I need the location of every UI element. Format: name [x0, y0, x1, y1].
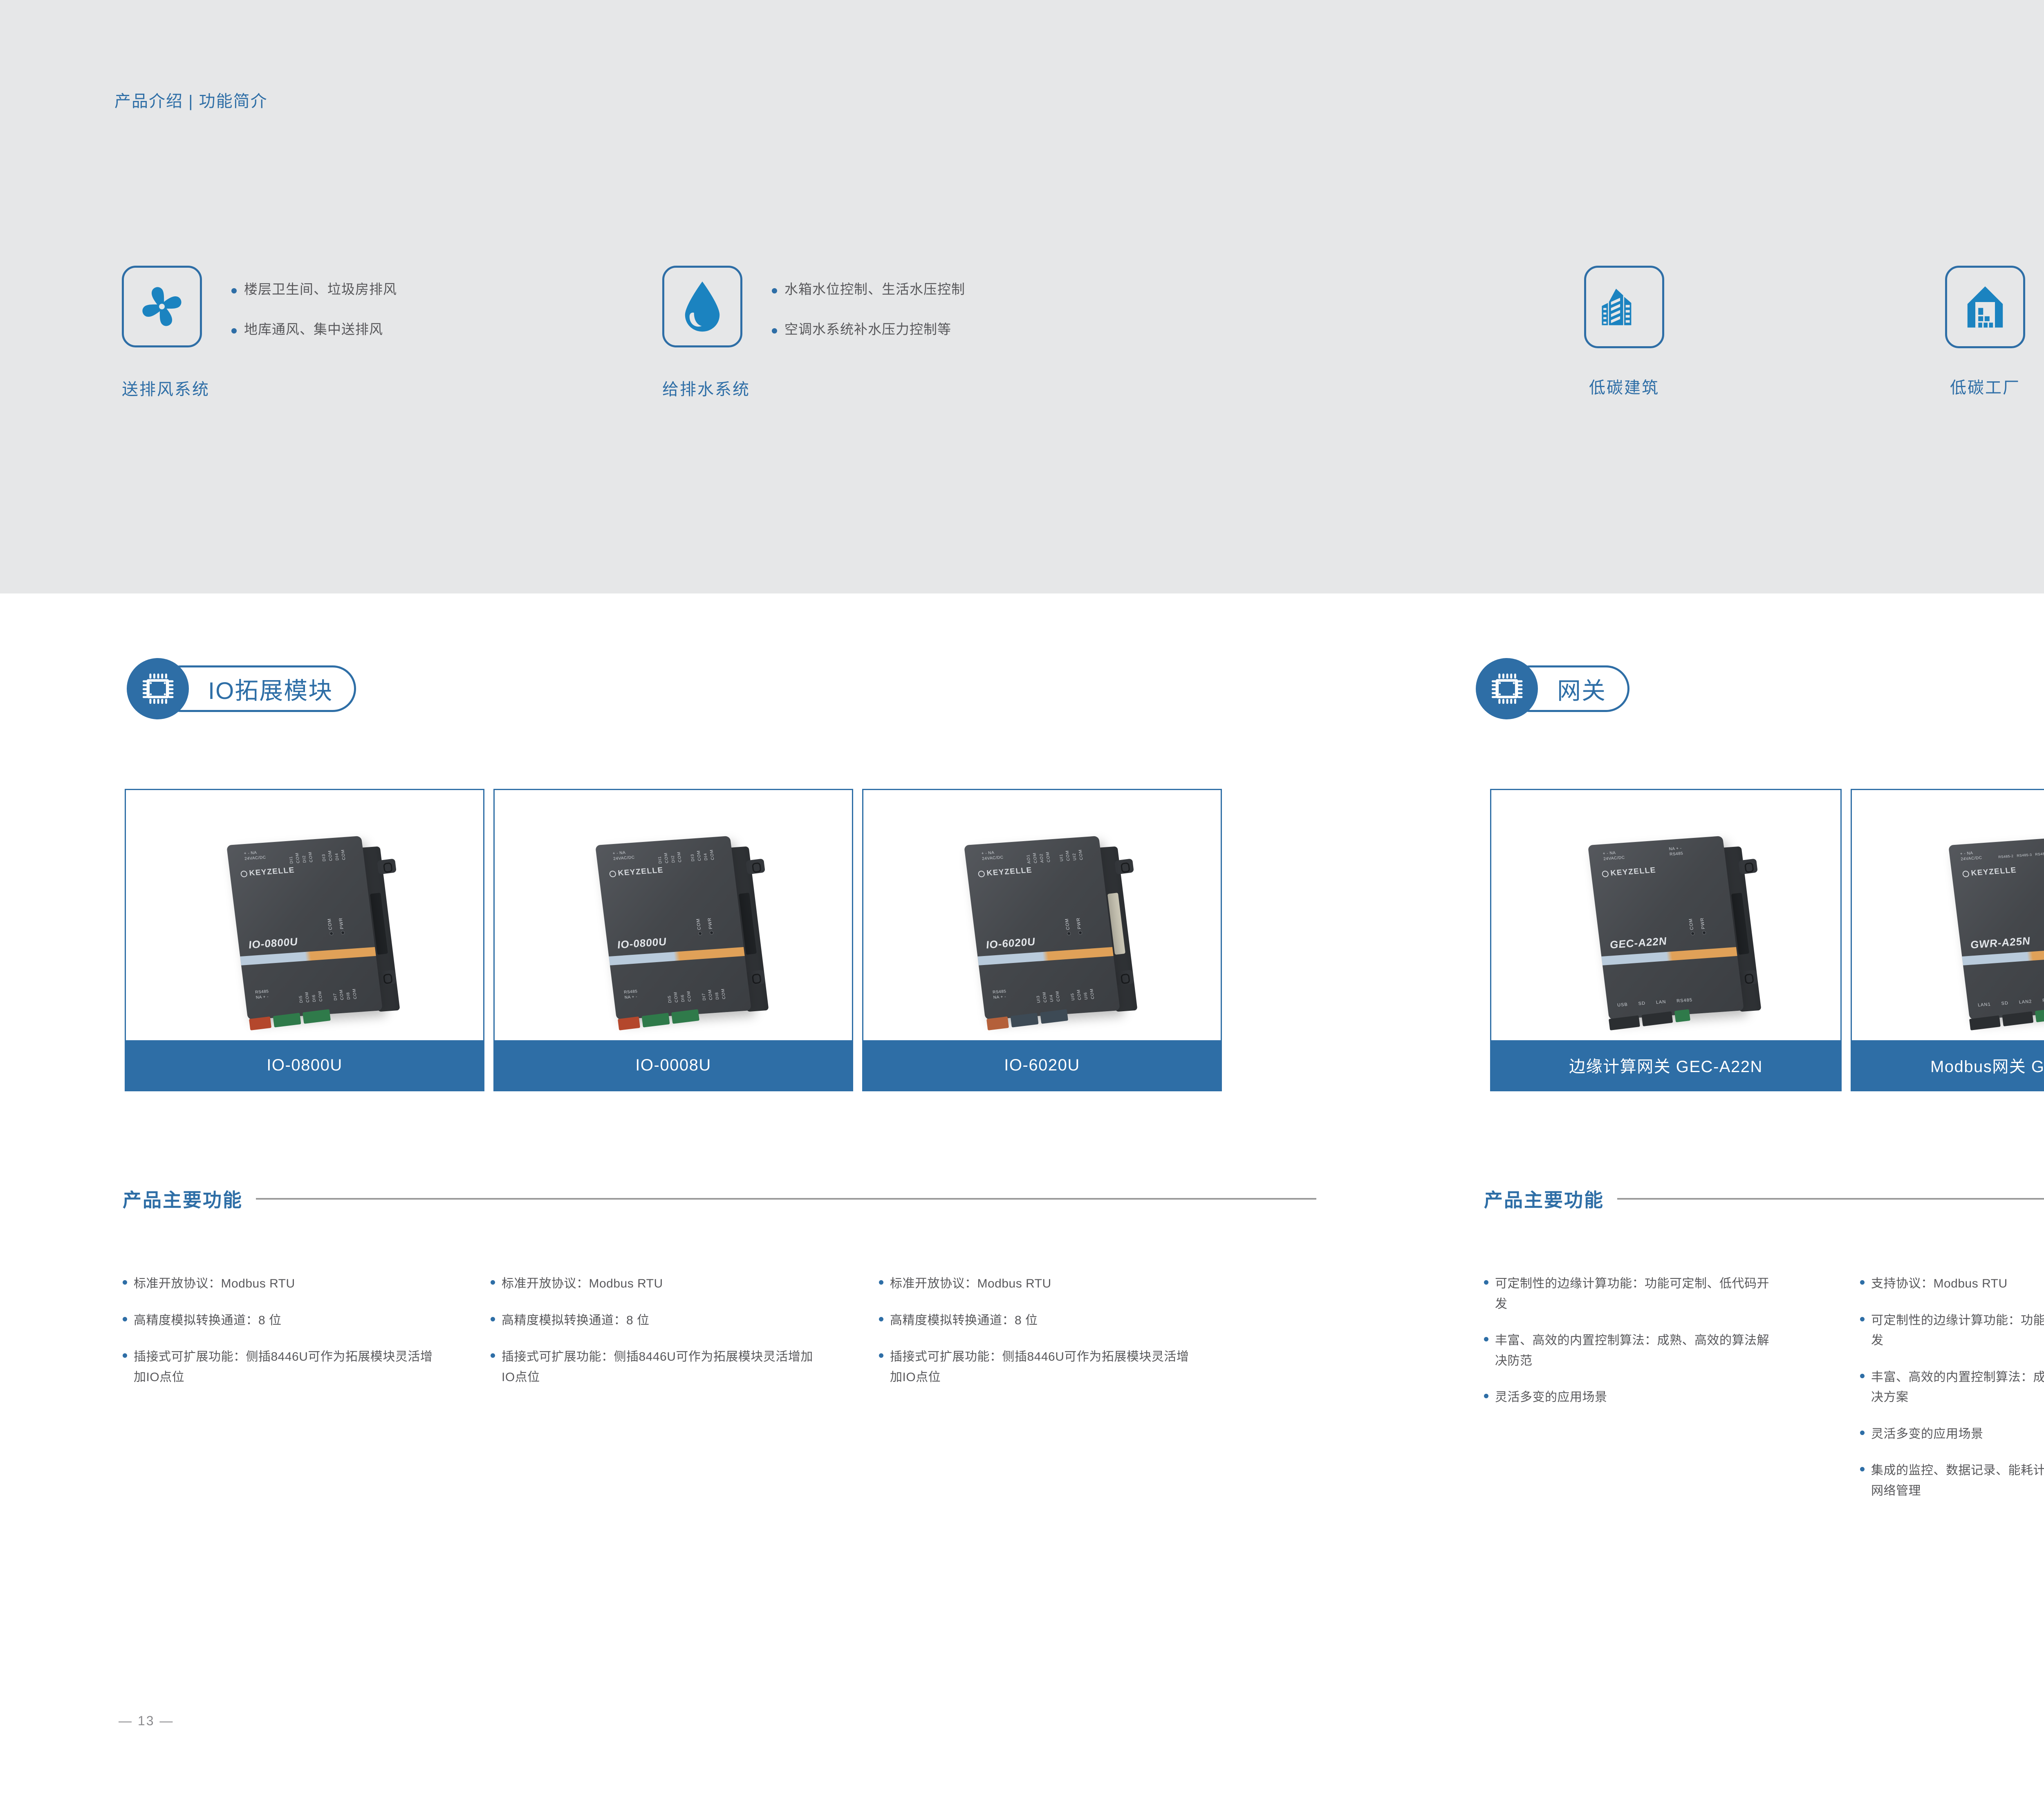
bullet-dot-icon	[123, 1353, 127, 1358]
product-card[interactable]: + - NA 24VAC/DC RS485-2 RS485-3 RS485-4 …	[1851, 789, 2044, 1091]
application-title: 给排水系统	[662, 376, 750, 400]
bullet-dot-icon	[879, 1280, 883, 1285]
device-illustration: + - NA 24VAC/DC NA + - RS485 KEYZELLE GE…	[1598, 840, 1733, 1016]
feature-text: 高精度模拟转换通道：8 位	[134, 1310, 282, 1331]
brand-logo: KEYZELLE	[609, 866, 664, 879]
bullet-text: 楼层卫生间、垃圾房排风	[244, 281, 397, 298]
features-heading-row: 产品主要功能	[1484, 1185, 2044, 1212]
feature-text: 支持协议：Modbus RTU	[1871, 1274, 2008, 1294]
device-model-text: IO-0800U	[616, 935, 667, 951]
brand-mark-icon	[1962, 871, 1970, 878]
device-model-text: IO-6020U	[985, 935, 1036, 951]
feature-text: 插接式可扩展功能：侧插8446U可作为拓展模块灵活增加IO点位	[134, 1347, 444, 1387]
device-illustration: + - NA 24VAC/DC AO1 COM AO2 COM UI1 COM	[975, 840, 1109, 1016]
product-card[interactable]: + - NA 24VAC/DC AO1 COM AO2 COM UI1 COM	[862, 789, 1222, 1091]
device-body: + - NA 24VAC/DC RS485-2 RS485-3 RS485-4 …	[1948, 836, 2044, 1020]
feature-column: 支持协议：Modbus RTU 可定制性的边缘计算功能：功能可定制、低代码开发 …	[1860, 1274, 2044, 1517]
product-label-bar: IO-6020U	[863, 1040, 1221, 1090]
scene-low-carbon-factory: 低碳工厂	[1945, 266, 2025, 398]
list-item: 插接式可扩展功能：侧插8446U可作为拓展模块灵活增加IO点位	[491, 1347, 879, 1387]
feature-text: 集成的监控、数据记录、能耗计量、报警、调度和网络管理	[1871, 1460, 2044, 1501]
led-pwr: PWR	[707, 917, 714, 934]
bullet-text: 空调水系统补水压力控制等	[784, 321, 951, 338]
top-terminal-group-a: DI1 COM DI2 COM	[656, 844, 682, 864]
bullet-dot-icon	[879, 1317, 883, 1321]
product-card[interactable]: + - NA 24VAC/DC NA + - RS485 KEYZELLE GE…	[1490, 789, 1842, 1091]
led-com: COM	[1065, 918, 1071, 935]
bullet-dot-icon	[879, 1353, 883, 1358]
top-terminal-group-b: DI3 COM DI4 COM	[320, 842, 346, 862]
factory-icon-box	[1945, 266, 2025, 348]
office-buildings-icon	[1599, 282, 1650, 332]
mounting-tab	[1114, 858, 1134, 874]
list-item: 水箱水位控制、生活水压控制	[772, 281, 965, 298]
feature-columns: 标准开放协议：Modbus RTU 高精度模拟转换通道：8 位 插接式可扩展功能…	[123, 1274, 1316, 1404]
brand-logo: KEYZELLE	[978, 866, 1033, 879]
brand-text: KEYZELLE	[249, 866, 295, 878]
port-label: USB	[1617, 1002, 1628, 1008]
product-card-row-io: + - NA 24VAC/DC DI1 COM DI2 COM DI3 COM	[125, 789, 1222, 1091]
feature-text: 标准开放协议：Modbus RTU	[134, 1274, 295, 1294]
led-indicators: COM PWR	[1065, 917, 1083, 935]
features-block-gateway: 产品主要功能 可定制性的边缘计算功能：功能可定制、低代码开发 丰富、高效的内置控…	[1484, 1185, 2044, 1517]
application-block-ventilation: 楼层卫生间、垃圾房排风 地库通风、集中送排风 送排风系统	[122, 266, 612, 413]
port-label: RS485-1	[2042, 997, 2044, 1003]
port-labels: LAN1 SD LAN2 RS485-1	[1977, 997, 2044, 1008]
page-header-left: 产品介绍 | 功能简介	[114, 88, 268, 112]
power-terminal-label: + - NA 24VAC/DC	[244, 850, 266, 862]
list-item: 支持协议：Modbus RTU	[1860, 1274, 2044, 1294]
feature-column: 标准开放协议：Modbus RTU 高精度模拟转换通道：8 位 插接式可扩展功能…	[879, 1274, 1247, 1404]
feature-text: 高精度模拟转换通道：8 位	[502, 1310, 650, 1331]
feature-column: 可定制性的边缘计算功能：功能可定制、低代码开发 丰富、高效的内置控制算法：成熟、…	[1484, 1274, 1860, 1517]
features-heading: 产品主要功能	[1484, 1185, 1604, 1212]
section-badge-label: 网关	[1557, 672, 1606, 706]
device-illustration: + - NA 24VAC/DC RS485-2 RS485-3 RS485-4 …	[1959, 840, 2044, 1016]
list-item: 可定制性的边缘计算功能：功能可定制、低代码开发	[1860, 1310, 2044, 1351]
list-item: 标准开放协议：Modbus RTU	[879, 1274, 1247, 1294]
bullet-dot-icon	[123, 1280, 127, 1285]
feature-text: 丰富、高效的内置控制算法：成熟、高效的算法解决防范	[1495, 1330, 1781, 1371]
feature-text: 丰富、高效的内置控制算法：成熟、高效的算法解决方案	[1871, 1367, 2044, 1408]
bullet-dot-icon	[1484, 1394, 1488, 1398]
led-indicators: COM PWR	[696, 917, 714, 935]
rs485-label: RS485 NA + -	[624, 989, 639, 1000]
list-item: 高精度模拟转换通道：8 位	[491, 1310, 879, 1331]
bullet-dot-icon	[1860, 1280, 1865, 1285]
device-body: + - NA 24VAC/DC AO1 COM AO2 COM UI1 COM	[964, 836, 1120, 1020]
mounting-tab	[377, 970, 397, 985]
feature-text: 可定制性的边缘计算功能：功能可定制、低代码开发	[1871, 1310, 2044, 1351]
device-body: + - NA 24VAC/DC DI1 COM DI2 COM DI3 COM	[226, 836, 383, 1020]
feature-text: 插接式可扩展功能：侧插8446U可作为拓展模块灵活增加IO点位	[890, 1347, 1201, 1387]
page-number-left: — 13 —	[119, 1713, 174, 1729]
bottom-terminal-group-a: DI5 COM DI6 COM	[666, 983, 692, 1003]
rs485-label: RS485 NA + -	[255, 989, 270, 1000]
list-item: 插接式可扩展功能：侧插8446U可作为拓展模块灵活增加IO点位	[879, 1347, 1247, 1387]
brand-text: KEYZELLE	[617, 866, 664, 878]
bullet-dot-icon	[1860, 1431, 1865, 1435]
bottom-terminal-group-a: DI5 COM DI6 COM	[297, 983, 323, 1003]
feature-column: 标准开放协议：Modbus RTU 高精度模拟转换通道：8 位 插接式可扩展功能…	[491, 1274, 879, 1404]
list-item: 地库通风、集中送排风	[231, 321, 397, 338]
rs485-terminal-labels: RS485-2 RS485-3 RS485-4 RS485-5	[1998, 850, 2044, 860]
list-item: 楼层卫生间、垃圾房排风	[231, 281, 397, 298]
bullet-dot-icon	[491, 1280, 495, 1285]
water-drop-icon-box	[662, 266, 742, 347]
power-terminal-label: + - NA 24VAC/DC	[1960, 851, 1982, 862]
list-item: 集成的监控、数据记录、能耗计量、报警、调度和网络管理	[1860, 1460, 2044, 1501]
feature-text: 高精度模拟转换通道：8 位	[890, 1310, 1038, 1331]
brand-logo: KEYZELLE	[1962, 866, 2017, 879]
application-title: 送排风系统	[122, 376, 210, 400]
device-illustration: + - NA 24VAC/DC DI1 COM DI2 COM DI3 COM	[237, 840, 372, 1016]
port-label: LAN1	[1977, 1002, 1991, 1008]
chip-icon-circle	[127, 658, 189, 719]
bottom-terminal-group-b: DI7 COM DI8 COM	[332, 981, 358, 1001]
product-label-bar: 边缘计算网关 GEC-A22N	[1491, 1040, 1840, 1090]
section-badge-gateway: 网关	[1476, 658, 1725, 719]
ventilation-bullet-list: 楼层卫生间、垃圾房排风 地库通风、集中送排风	[231, 281, 397, 337]
bottom-terminal-group-b: DI7 COM DI8 COM	[700, 981, 726, 1001]
chip-icon-circle	[1476, 658, 1538, 719]
list-item: 灵活多变的应用场景	[1484, 1387, 1860, 1408]
list-item: 高精度模拟转换通道：8 位	[879, 1310, 1247, 1331]
device-body: + - NA 24VAC/DC DI1 COM DI2 COM DI3 COM	[595, 836, 751, 1020]
heading-rule	[1617, 1198, 2044, 1200]
section-badge-io-module: IO拓展模块	[127, 658, 437, 719]
bullet-dot-icon	[491, 1353, 495, 1358]
mounting-tab	[1114, 970, 1134, 985]
scene-title: 低碳建筑	[1584, 374, 1664, 398]
feature-column: 标准开放协议：Modbus RTU 高精度模拟转换通道：8 位 插接式可扩展功能…	[123, 1274, 491, 1404]
list-item: 空调水系统补水压力控制等	[772, 321, 965, 338]
mounting-tab	[377, 858, 397, 874]
mounting-tab	[1738, 858, 1758, 874]
application-block-water: 水箱水位控制、生活水压控制 空调水系统补水压力控制等 给排水系统	[662, 266, 1235, 413]
list-item: 灵活多变的应用场景	[1860, 1424, 2044, 1444]
bottom-terminal-group-b: UI5 COM UI6 COM	[1069, 981, 1095, 1001]
list-item: 高精度模拟转换通道：8 位	[123, 1310, 491, 1331]
mounting-tab	[1738, 970, 1758, 985]
brand-text: KEYZELLE	[986, 866, 1033, 878]
fan-icon-box	[122, 266, 202, 347]
list-item: 标准开放协议：Modbus RTU	[491, 1274, 879, 1294]
product-label-bar: Modbus网关 GWR-A25N	[1852, 1040, 2044, 1090]
brand-text: KEYZELLE	[1610, 866, 1656, 878]
features-block-io: 产品主要功能 标准开放协议：Modbus RTU 高精度模拟转换通道：8 位 插…	[123, 1185, 1316, 1404]
brand-logo: KEYZELLE	[240, 866, 296, 879]
chip-icon	[140, 671, 176, 707]
brand-text: KEYZELLE	[1970, 866, 2017, 878]
feature-text: 标准开放协议：Modbus RTU	[502, 1274, 663, 1294]
product-label-bar: IO-0800U	[126, 1040, 483, 1090]
feature-text: 灵活多变的应用场景	[1495, 1387, 1607, 1408]
product-label: 边缘计算网关 GEC-A22N	[1569, 1053, 1763, 1077]
list-item: 插接式可扩展功能：侧插8446U可作为拓展模块灵活增加IO点位	[123, 1347, 491, 1387]
product-card[interactable]: + - NA 24VAC/DC DI1 COM DI2 COM DI3 COM	[125, 789, 484, 1091]
led-indicators: COM PWR	[1688, 917, 1707, 935]
device-illustration: + - NA 24VAC/DC DI1 COM DI2 COM DI3 COM	[606, 840, 741, 1016]
led-com: COM	[1688, 918, 1695, 935]
water-drop-icon	[679, 280, 725, 333]
led-pwr: PWR	[338, 917, 345, 934]
rs485-terminal-label: NA + - RS485	[1669, 846, 1683, 857]
features-heading-row: 产品主要功能	[123, 1185, 1316, 1212]
led-pwr: PWR	[1076, 917, 1083, 934]
fan-icon	[136, 281, 188, 332]
list-item: 丰富、高效的内置控制算法：成熟、高效的算法解决方案	[1860, 1367, 2044, 1408]
bullet-dot-icon	[1484, 1280, 1488, 1285]
led-com: COM	[327, 918, 334, 935]
list-item: 丰富、高效的内置控制算法：成熟、高效的算法解决防范	[1484, 1330, 1860, 1371]
bottom-terminal-group-a: UI3 COM UI4 COM	[1035, 983, 1061, 1003]
device-model-text: IO-0800U	[248, 935, 298, 951]
top-terminal-group-a: AO1 COM AO2 COM	[1025, 844, 1051, 864]
bullet-dot-icon	[123, 1317, 127, 1321]
scene-title: 低碳工厂	[1945, 374, 2025, 398]
office-buildings-icon-box	[1584, 266, 1664, 348]
feature-text: 灵活多变的应用场景	[1871, 1424, 1983, 1444]
bullet-dot-icon	[1484, 1337, 1488, 1341]
power-terminal-label: + - NA 24VAC/DC	[612, 850, 635, 862]
led-pwr: PWR	[1700, 917, 1707, 934]
bullet-dot-icon	[772, 288, 777, 293]
product-label: IO-6020U	[1004, 1056, 1080, 1075]
brand-mark-icon	[978, 871, 985, 878]
brand-logo: KEYZELLE	[1602, 866, 1657, 879]
bullet-text: 地库通风、集中送排风	[244, 321, 383, 338]
device-model-text: GEC-A22N	[1609, 935, 1667, 952]
bullet-text: 水箱水位控制、生活水压控制	[784, 281, 965, 298]
led-indicators: COM PWR	[327, 917, 345, 935]
brand-mark-icon	[609, 871, 616, 878]
feature-text: 插接式可扩展功能：侧插8446U可作为拓展模块灵活增加IO点位	[502, 1347, 825, 1387]
features-heading: 产品主要功能	[123, 1185, 243, 1212]
section-badge-label: IO拓展模块	[208, 672, 333, 706]
device-body: + - NA 24VAC/DC NA + - RS485 KEYZELLE GE…	[1588, 836, 1744, 1020]
bullet-dot-icon	[231, 288, 237, 293]
list-item: 标准开放协议：Modbus RTU	[123, 1274, 491, 1294]
led-com: COM	[696, 918, 703, 935]
port-label: RS485	[1676, 998, 1693, 1004]
chip-icon	[1489, 671, 1525, 707]
product-card-row-gateway: + - NA 24VAC/DC NA + - RS485 KEYZELLE GE…	[1490, 789, 2044, 1091]
brand-mark-icon	[240, 871, 248, 878]
product-card[interactable]: + - NA 24VAC/DC DI1 COM DI2 COM DI3 COM	[493, 789, 853, 1091]
mounting-tab	[746, 970, 765, 985]
top-terminal-group-a: DI1 COM DI2 COM	[287, 844, 314, 864]
rs485-label: RS485 NA + -	[993, 989, 1007, 1000]
product-label: IO-0008U	[635, 1056, 711, 1075]
bullet-dot-icon	[1860, 1317, 1865, 1321]
brand-mark-icon	[1602, 871, 1609, 878]
mounting-tab	[746, 858, 765, 874]
device-model-text: GWR-A25N	[1970, 934, 2031, 951]
water-bullet-list: 水箱水位控制、生活水压控制 空调水系统补水压力控制等	[772, 281, 965, 337]
feature-text: 标准开放协议：Modbus RTU	[890, 1274, 1051, 1294]
product-label: Modbus网关 GWR-A25N	[1930, 1053, 2044, 1077]
top-terminal-group-b: UI1 COM UI2 COM	[1058, 842, 1084, 862]
list-item: 可定制性的边缘计算功能：功能可定制、低代码开发	[1484, 1274, 1860, 1314]
catalog-page: 产品介绍 | 功能简介 产品介绍 | 功能简介 楼层卫生间、垃圾房排风	[0, 0, 2044, 1798]
feature-text: 可定制性的边缘计算功能：功能可定制、低代码开发	[1495, 1274, 1781, 1314]
port-label: SD	[1638, 1001, 1646, 1006]
product-label-bar: IO-0008U	[495, 1040, 852, 1090]
product-label: IO-0800U	[267, 1056, 342, 1075]
bullet-dot-icon	[1860, 1467, 1865, 1471]
scene-low-carbon-building: 低碳建筑	[1584, 266, 1664, 398]
port-label: LAN2	[2019, 999, 2032, 1005]
bullet-dot-icon	[772, 328, 777, 334]
power-terminal-label: + - NA 24VAC/DC	[981, 850, 1004, 862]
top-terminal-group-b: DI3 COM DI4 COM	[689, 842, 715, 862]
port-label: SD	[2001, 1001, 2009, 1006]
factory-icon	[1961, 282, 2010, 332]
heading-rule	[256, 1198, 1316, 1200]
port-labels: USB SD LAN RS485	[1617, 998, 1692, 1008]
feature-columns: 可定制性的边缘计算功能：功能可定制、低代码开发 丰富、高效的内置控制算法：成熟、…	[1484, 1274, 2044, 1517]
bullet-dot-icon	[231, 328, 237, 334]
power-terminal-label: + - NA 24VAC/DC	[1602, 850, 1625, 862]
port-label: LAN	[1656, 999, 1666, 1005]
bullet-dot-icon	[1860, 1374, 1865, 1378]
bullet-dot-icon	[491, 1317, 495, 1321]
